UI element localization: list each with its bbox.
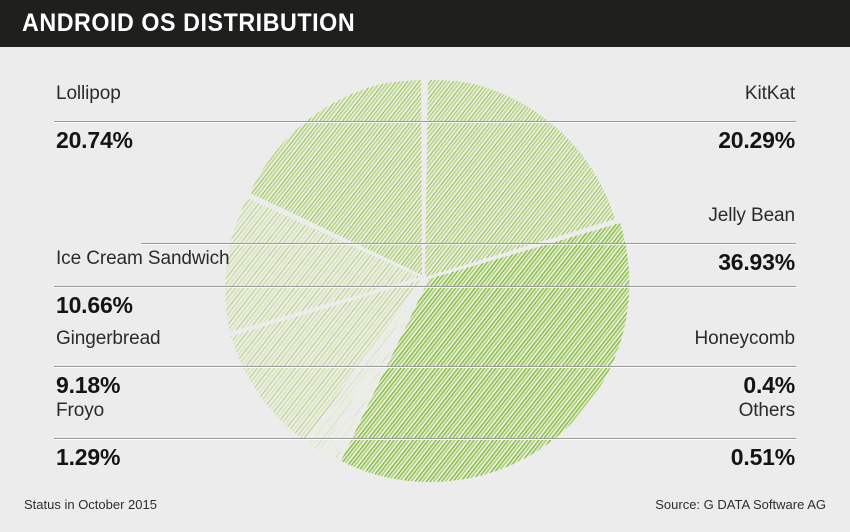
legend-label: KitKat [745, 83, 795, 105]
legend-rule [141, 243, 796, 244]
legend-label: Honeycomb [695, 328, 795, 350]
legend-rule [54, 121, 796, 122]
legend-rule [54, 286, 796, 287]
pie-slices [225, 78, 629, 482]
legend-value: 20.29% [718, 127, 795, 154]
legend-label: Froyo [56, 400, 104, 422]
legend-value: 0.4% [743, 372, 795, 399]
status-text: Status in October 2015 [24, 497, 157, 512]
legend-label: Lollipop [56, 83, 121, 105]
legend-value: 10.66% [56, 292, 133, 319]
legend-rule [54, 366, 796, 367]
legend-value: 0.51% [731, 444, 795, 471]
page-title: ANDROID OS DISTRIBUTION [22, 9, 355, 38]
legend-value: 9.18% [56, 372, 120, 399]
legend-value: 1.29% [56, 444, 120, 471]
android-os-distribution-infographic: ANDROID OS DISTRIBUTION [0, 0, 850, 532]
legend-label: Others [739, 400, 795, 422]
legend-value: 20.74% [56, 127, 133, 154]
legend-label: Gingerbread [56, 328, 161, 350]
legend-label: Jelly Bean [708, 205, 795, 227]
header-bar: ANDROID OS DISTRIBUTION [0, 0, 850, 47]
source-text: Source: G DATA Software AG [655, 497, 826, 512]
legend-rule [54, 438, 796, 439]
legend-label: Ice Cream Sandwich [56, 248, 230, 270]
legend-value: 36.93% [718, 249, 795, 276]
